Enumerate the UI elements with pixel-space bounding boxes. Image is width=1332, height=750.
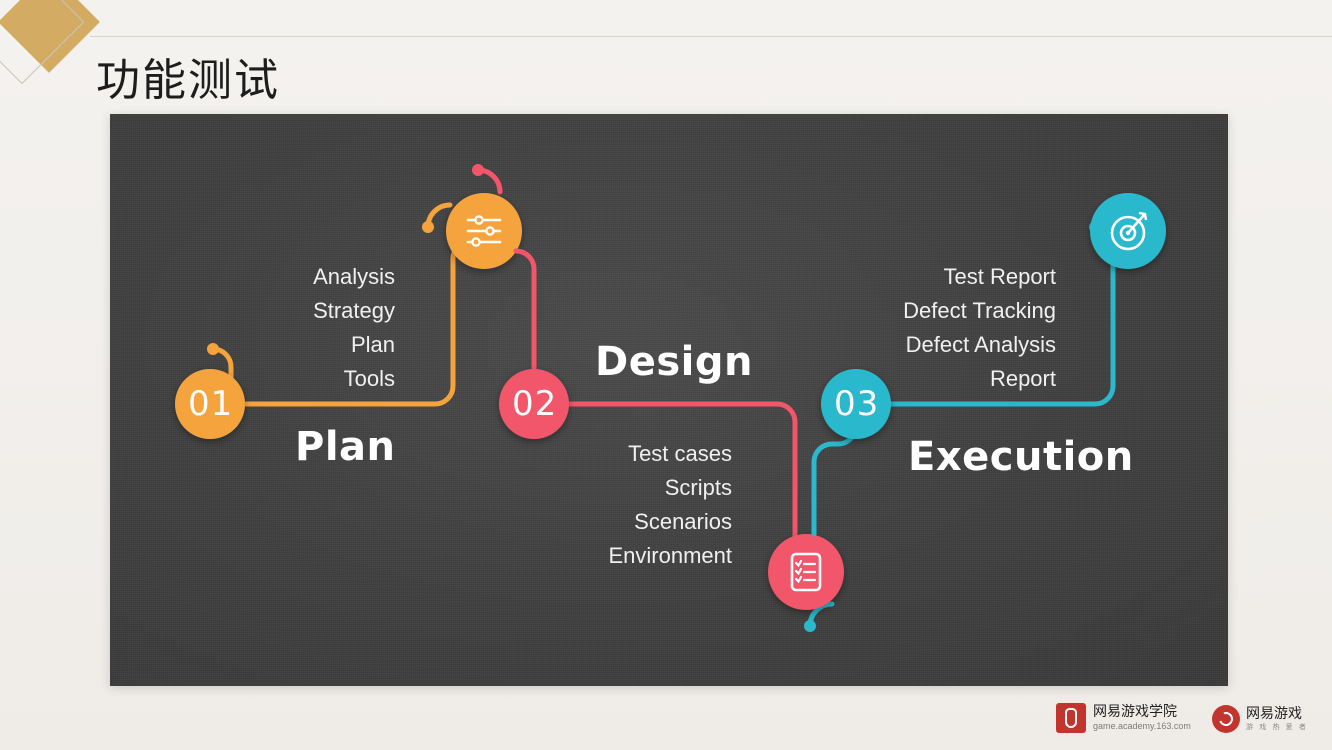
bullet-item: Test cases [520,437,732,471]
stage-name-execution: Execution [908,434,1134,480]
academy-logo-icon [1056,703,1086,733]
bullet-item: Defect Tracking [810,294,1056,328]
bullet-item: Report [810,362,1056,396]
netease-games-tagline: 游 戏 热 爱 者 [1246,722,1308,732]
footer-logo-netease-games: 网易游戏 游 戏 热 爱 者 [1212,705,1308,733]
stage-name-plan: Plan [295,424,396,470]
netease-games-name: 网易游戏 [1246,707,1308,722]
title-divider [90,36,1332,37]
stage-bullets-plan: Analysis Strategy Plan Tools [190,260,395,396]
bullet-item: Defect Analysis [810,328,1056,362]
footer-logo-academy: 网易游戏学院 game.academy.163.com [1056,703,1191,733]
netease-games-logo-icon [1212,705,1240,733]
bullet-item: Plan [190,328,395,362]
academy-logo-name: 网易游戏学院 [1093,704,1191,720]
bullet-item: Tools [190,362,395,396]
stage-bullets-execution: Test Report Defect Tracking Defect Analy… [810,260,1056,396]
page-title: 功能测试 [96,44,280,108]
bullet-item: Scenarios [520,505,732,539]
academy-logo-url: game.academy.163.com [1093,720,1191,732]
bullet-item: Analysis [190,260,395,294]
diagram-panel: 01 02 03 Plan Design Execution Analysis … [110,114,1228,686]
bullet-item: Test Report [810,260,1056,294]
roadmap-graphic [110,114,1228,686]
slide-canvas: 功能测试 [0,0,1332,750]
bullet-item: Scripts [520,471,732,505]
bullet-item: Environment [520,539,732,573]
stage-bullets-design: Test cases Scripts Scenarios Environment [520,437,732,573]
bullet-item: Strategy [190,294,395,328]
stage-number-02: 02 [512,384,557,424]
stage-name-design: Design [595,339,753,385]
